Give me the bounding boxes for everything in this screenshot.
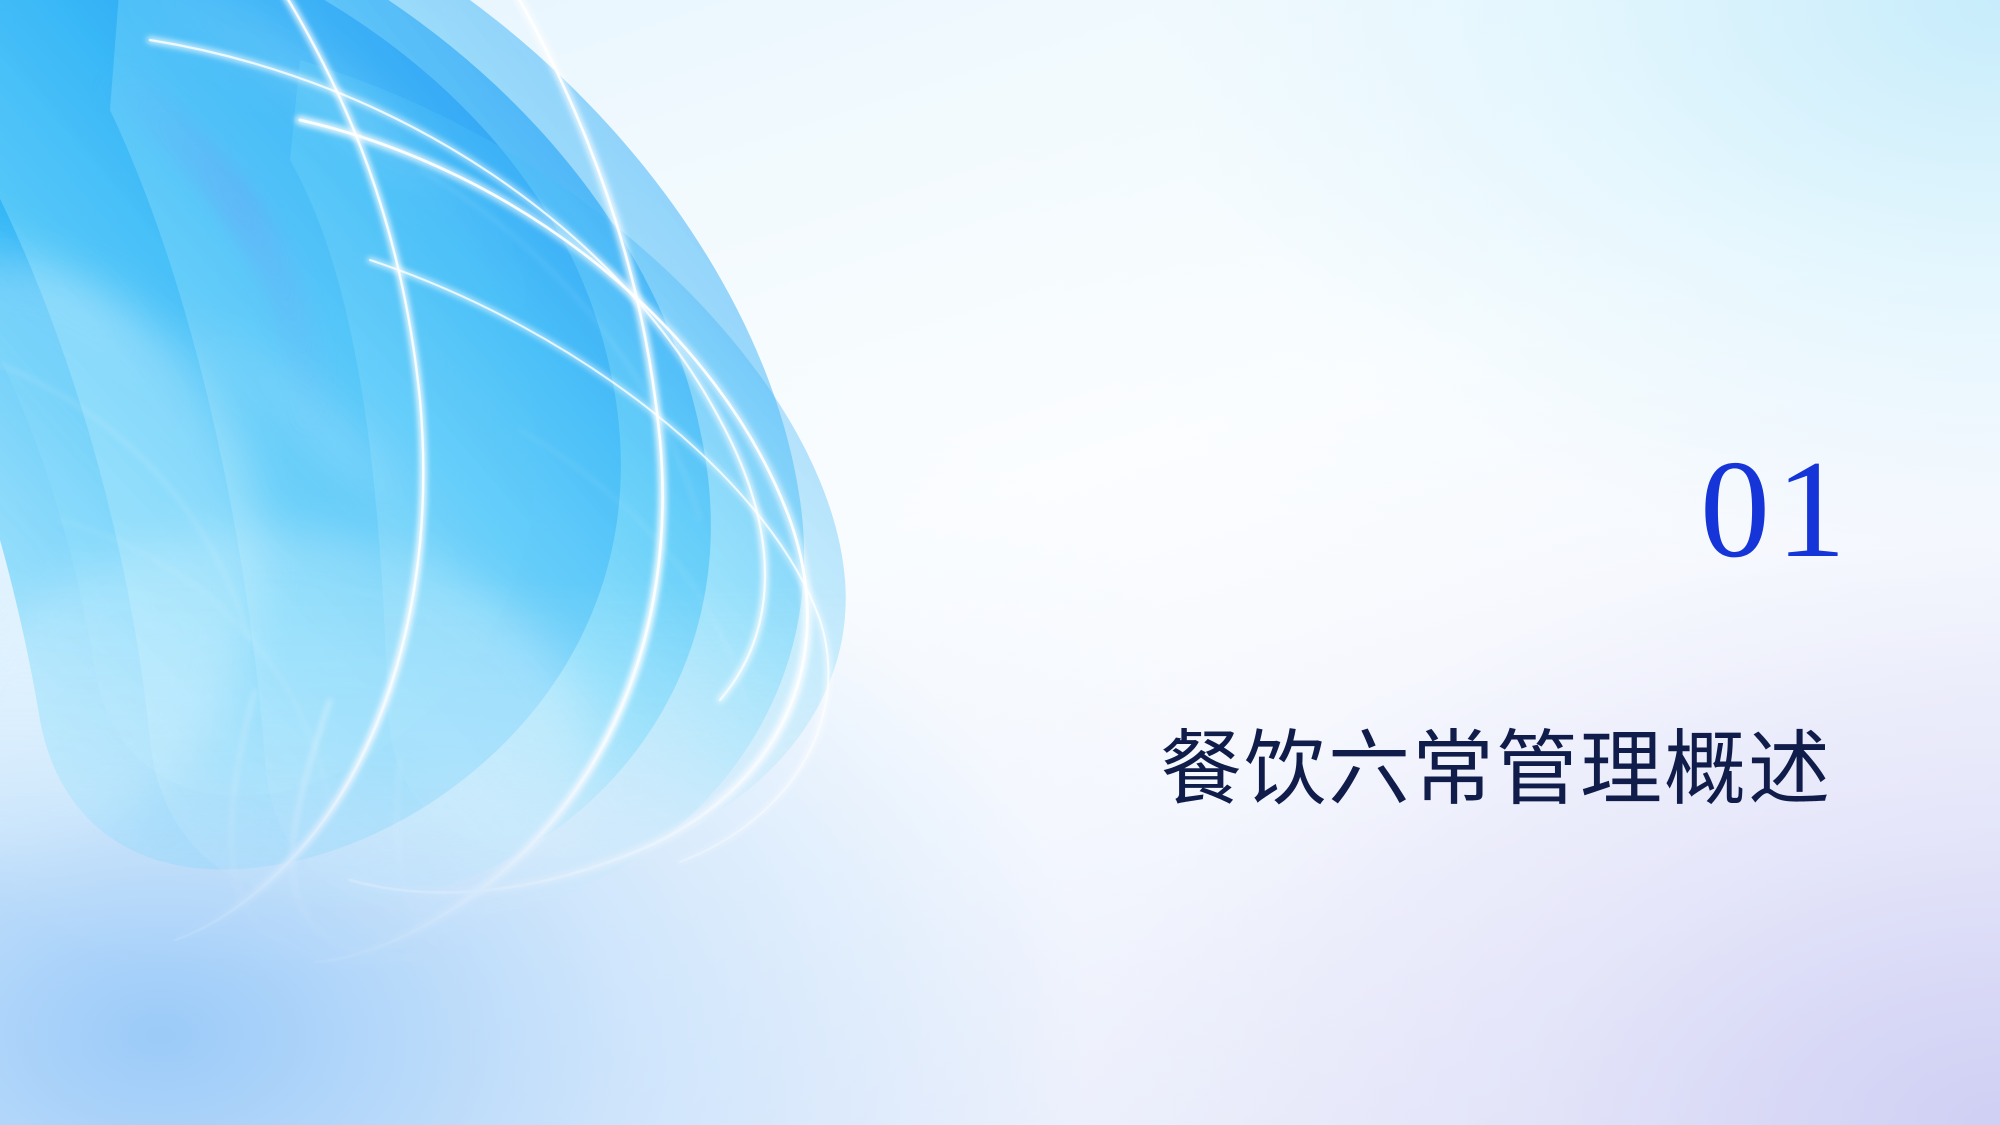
violet-tint-streak: [95, 60, 330, 430]
sheen-sweep-left: [0, 180, 230, 560]
sheen-sweep-upper: [140, 0, 560, 430]
glass-rim-highlights: [0, 0, 828, 962]
left-glow: [0, 260, 260, 860]
slide-canvas: 01 餐饮六常管理概述: [0, 0, 2000, 1125]
glass-petal-second: [0, 0, 711, 902]
section-title: 餐饮六常管理概述: [1160, 726, 1860, 815]
section-number: 01: [1700, 440, 2000, 580]
glass-petal-outer: [0, 0, 621, 870]
abstract-glass-ribbon-graphic: [0, 0, 900, 1000]
lower-glow: [0, 530, 590, 990]
glass-petal-inner: [290, 60, 846, 858]
glass-tail-converge: [231, 690, 438, 963]
glass-petal-third: [110, 0, 804, 915]
sheen-sweep-lower: [170, 300, 500, 740]
